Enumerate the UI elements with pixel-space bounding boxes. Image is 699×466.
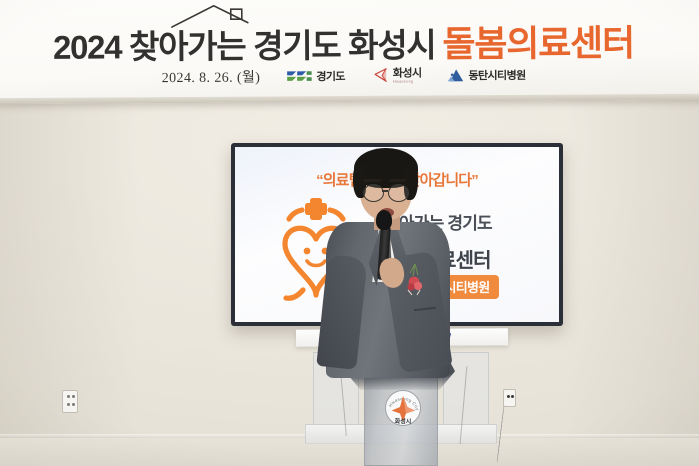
eyebrow-right [389,179,406,182]
event-date: 2024. 8. 26. (월) [162,67,261,88]
glasses-bridge [382,190,388,192]
microphone-head-icon [376,210,392,230]
wall-outlet-icon [503,389,516,407]
gyeonggi-do-logo-icon [286,70,312,82]
banner-meta-row: 2024. 8. 26. (월) 경기도 화성시 [0,64,693,88]
hwaseong-city-emblem: Hwaseong City 화성시 [384,389,422,427]
speaker-person [318,148,458,378]
hwaseong-city-logo-label: 화성시 [393,68,422,79]
banner-title-row: 2024 찾아가는 경기도 화성시돌봄의료센터 [0,14,693,70]
glasses-lens-left [363,184,384,202]
wall-shadow-left [0,100,200,466]
dongtan-city-hospital-logo: 동탄시티병원 [447,67,525,83]
glasses-lens-right [388,184,409,202]
dongtan-city-hospital-logo-label: 동탄시티병원 [468,67,525,83]
dongtan-city-hospital-logo-icon [447,68,464,82]
flower-corsage [404,260,426,296]
emblem-label: 화성시 [395,418,412,426]
hwaseong-city-logo: 화성시 Hwaseong [371,68,422,84]
gyeonggi-do-logo: 경기도 [286,68,345,84]
gyeonggi-do-logo-label: 경기도 [316,68,345,84]
photo-scene: 2024 찾아가는 경기도 화성시돌봄의료센터 2024. 8. 26. (월)… [0,0,699,466]
hwaseong-city-logo-icon [371,68,389,84]
page-title-accent: 돌봄의료센터 [442,22,634,64]
event-banner: 2024 찾아가는 경기도 화성시돌봄의료센터 2024. 8. 26. (월)… [0,0,699,104]
hwaseong-city-logo-sublabel: Hwaseong [393,79,422,83]
eyebrow-left [364,179,381,182]
wall-outlet-icon [62,390,78,413]
page-title: 2024 찾아가는 경기도 화성시 [53,26,436,65]
